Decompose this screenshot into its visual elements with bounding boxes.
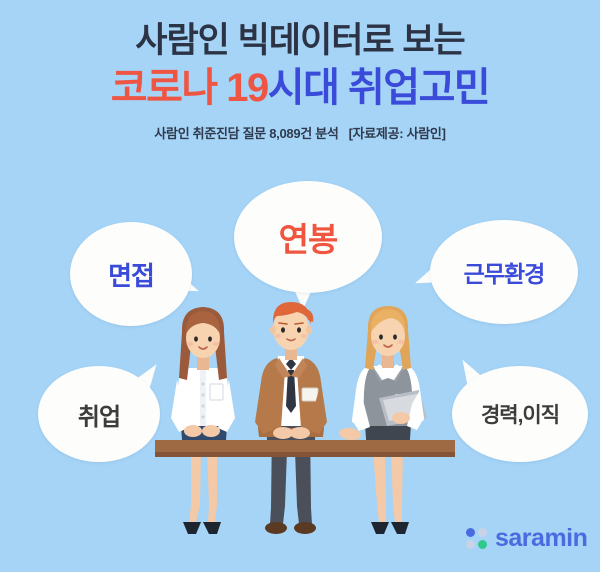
logo-dots-icon: [466, 528, 487, 549]
person-woman-gray-vest: [338, 306, 427, 534]
saramin-logo[interactable]: saramin: [466, 524, 587, 553]
speech-bubble-label-career: 경력,이직: [481, 399, 559, 429]
subtitle-source-text: [자료제공: 사람인]: [349, 126, 446, 141]
speech-bubble-label-job: 취업: [78, 397, 120, 432]
page-title-highlight-red: 코로나 19: [111, 66, 268, 110]
person-woman-white-blouse: [171, 307, 235, 534]
bench: [155, 440, 455, 457]
speech-bubble-label-interview: 면접: [108, 256, 154, 293]
people-on-bench-illustration: [155, 300, 455, 545]
speech-bubble-job: 취업: [38, 366, 160, 462]
logo-word-text: saramin: [495, 524, 587, 552]
header: 사람인 빅데이터로 보는 코로나 19시대 취업고민 사람인 취준진담 질문 8…: [0, 0, 600, 142]
speech-bubble-career: 경력,이직: [452, 366, 588, 462]
logo-wordmark: saramin: [495, 524, 587, 553]
subtitle-main-text: 사람인 취준진담 질문 8,089건 분석: [154, 126, 338, 141]
speech-bubble-label-salary: 연봉: [279, 213, 338, 261]
page-title-highlight-blue: 시대 취업고민: [268, 66, 489, 110]
speech-bubble-label-workenv: 근무환경: [464, 255, 545, 289]
person-man-brown-blazer: [255, 302, 327, 534]
speech-bubble-salary: 연봉: [234, 181, 382, 293]
subtitle: 사람인 취준진담 질문 8,089건 분석[자료제공: 사람인]: [0, 123, 600, 142]
infographic-poster: 사람인 빅데이터로 보는 코로나 19시대 취업고민 사람인 취준진담 질문 8…: [0, 0, 600, 572]
page-title-line-1: 사람인 빅데이터로 보는: [0, 22, 600, 61]
page-title-line-2: 코로나 19시대 취업고민: [0, 67, 600, 109]
